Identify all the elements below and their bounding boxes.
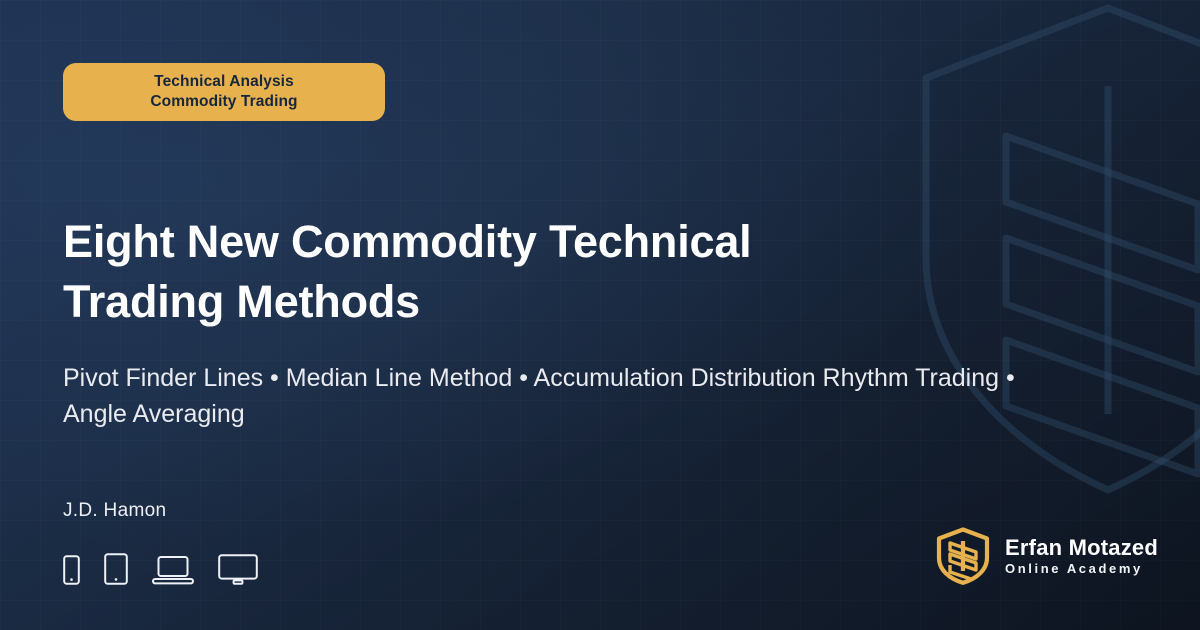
brand-text-block: Erfan Motazed Online Academy	[1005, 536, 1158, 576]
phone-icon	[63, 555, 80, 585]
desktop-icon	[218, 554, 258, 585]
brand-tagline: Online Academy	[1005, 562, 1158, 576]
category-badge-line-1: Technical Analysis	[154, 72, 294, 92]
page-title: Eight New Commodity Technical Trading Me…	[63, 212, 923, 333]
brand-logo: Erfan Motazed Online Academy	[935, 527, 1158, 585]
tablet-icon	[104, 553, 128, 585]
brand-name: Erfan Motazed	[1005, 536, 1158, 560]
author-name: J.D. Hamon	[63, 500, 166, 522]
category-badge-line-2: Commodity Trading	[150, 92, 297, 112]
poster-content: Technical Analysis Commodity Trading Eig…	[63, 0, 1063, 630]
device-icon-row	[63, 545, 258, 585]
category-badge: Technical Analysis Commodity Trading	[63, 63, 385, 121]
poster-canvas: Technical Analysis Commodity Trading Eig…	[0, 0, 1200, 630]
subtitle-topics: Pivot Finder Lines • Median Line Method …	[63, 361, 1023, 432]
shield-monogram-icon	[935, 527, 991, 585]
laptop-icon	[152, 555, 194, 585]
